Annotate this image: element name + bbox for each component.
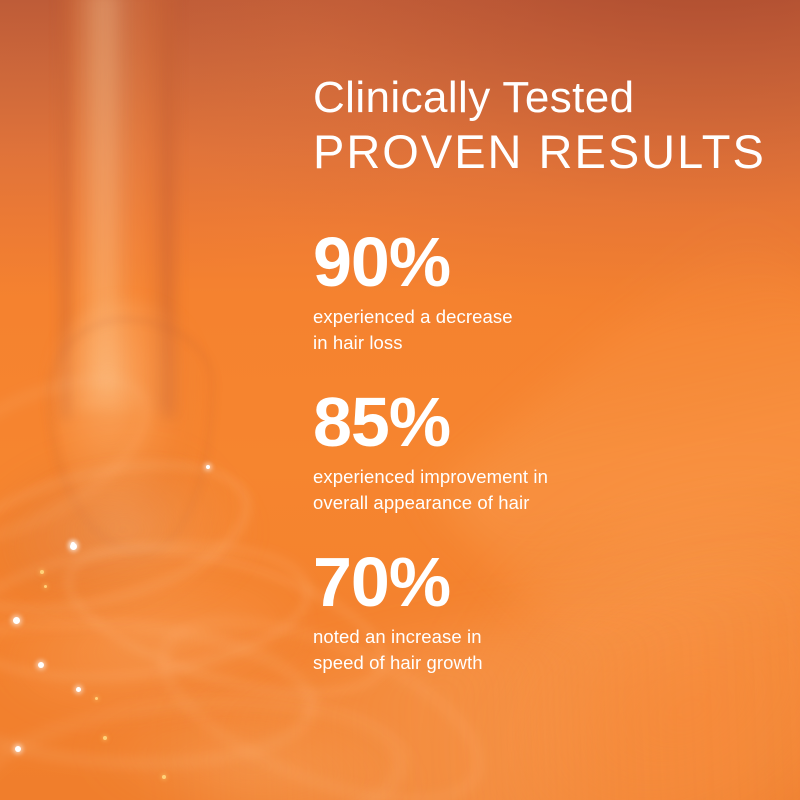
gel-sparkle-amber [95, 697, 98, 700]
gel-sparkle [13, 617, 20, 624]
promotional-poster: Clinically Tested PROVEN RESULTS 90% exp… [0, 0, 800, 800]
stat-description: experienced a decrease in hair loss [313, 304, 753, 356]
gel-sparkle [71, 542, 75, 546]
stat-description: experienced improvement in overall appea… [313, 464, 753, 516]
stat-description: noted an increase in speed of hair growt… [313, 624, 753, 676]
stat-value: 90% [313, 224, 753, 300]
gel-sparkle-amber [40, 570, 44, 574]
stat-value: 85% [313, 384, 753, 460]
headline: Clinically Tested PROVEN RESULTS [313, 72, 778, 180]
poster-content: Clinically Tested PROVEN RESULTS 90% exp… [308, 0, 778, 800]
headline-subtitle: Clinically Tested [313, 72, 778, 124]
stat-block: 70% noted an increase in speed of hair g… [313, 544, 753, 676]
stat-value: 70% [313, 544, 753, 620]
gel-sparkle [206, 465, 210, 469]
gel-sparkle [76, 687, 81, 692]
stat-block: 85% experienced improvement in overall a… [313, 384, 753, 516]
gel-sparkle-amber [44, 585, 47, 588]
headline-title: PROVEN RESULTS [313, 124, 778, 180]
gel-sparkle [15, 746, 21, 752]
stat-block: 90% experienced a decrease in hair loss [313, 224, 753, 356]
gel-sparkle-amber [162, 775, 166, 779]
gel-sparkle-amber [103, 736, 107, 740]
gel-sparkle [38, 662, 44, 668]
